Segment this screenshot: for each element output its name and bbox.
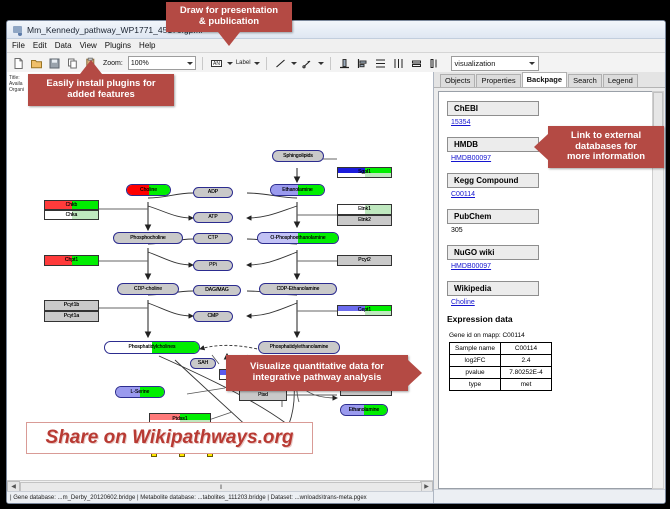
node-ctp[interactable]: CTP [193,233,233,244]
visualization-value: visualization [455,59,496,68]
table-row: Sample name C00114 [450,343,552,355]
node-label: Chpt1 [65,258,78,263]
zoom-label: Zoom: [103,60,123,67]
db-header-pubchem: PubChem [447,209,539,224]
node-ethanolamine-top[interactable]: Ethanolamine [270,184,325,196]
status-bar: | Gene database: ...m_Derby_20120602.bri… [7,491,433,503]
node-label: Cept1 [358,308,371,313]
callout-draw-for-presentation: Draw for presentation & publication [166,2,292,32]
node-choline-top[interactable]: Choline [126,184,171,196]
node-label: Pcyt1b [64,303,79,308]
node-phosphatidylethanolamine[interactable]: Phosphatidylethanolamine [258,341,340,354]
open-folder-icon[interactable] [29,56,44,71]
toolbar-separator [202,57,203,70]
node-label: Phosphatidylcholines [129,345,176,350]
share-banner: Share on Wikipathways.org [26,422,313,454]
callout-pointer-up-plugins [80,60,102,74]
table-row: type met [450,379,552,391]
callout-link-external-databases: Link to external databases for more info… [548,126,664,168]
svg-text:AN: AN [213,61,220,67]
node-phosphocholine[interactable]: Phosphocholine [113,232,183,244]
datanode-dropdown-icon[interactable] [227,62,233,65]
node-cdp-ethanolamine[interactable]: CDP-Ethanolamine [259,283,337,295]
expression-table: Sample name C00114 log2FC 2.4 pvalue 7.8… [449,342,552,391]
db-header-hmdb: HMDB [447,137,539,152]
tab-backpage[interactable]: Backpage [522,72,567,87]
tab-properties[interactable]: Properties [476,74,520,87]
callout-text: Link to external databases for more info… [567,131,645,164]
node-pcyt2[interactable]: Pcyt2 [337,255,392,266]
node-label: ATP [208,215,217,220]
label-tool-label[interactable]: Label [236,60,251,66]
tab-objects[interactable]: Objects [440,74,475,87]
db-header-wikipedia: Wikipedia [447,281,539,296]
node-label: Ptdss1 [172,417,187,422]
pathway-edges [7,72,433,481]
interaction-tool-icon[interactable] [300,56,315,71]
menu-item-view[interactable]: View [80,41,97,50]
line-tool-icon[interactable] [273,56,288,71]
callout-text: Visualize quantitative data for integrat… [250,362,384,384]
callout-pointer-down-draw [218,32,240,46]
callout-pointer-left-choline [226,360,240,386]
menu-item-data[interactable]: Data [55,41,72,50]
node-ethanolamine-bottom[interactable]: Ethanolamine [340,404,388,416]
align-left-icon[interactable] [355,56,370,71]
db-link-chebi[interactable]: 15354 [451,119,652,126]
node-label: O-Phosphoethanolamine [270,236,325,241]
callout-text: Easily install plugins for added feature… [46,79,155,101]
node-cept1[interactable]: Cept1 [337,305,392,316]
node-label: SAH [198,361,208,366]
expr-key-log2fc: log2FC [450,355,501,367]
node-pcyt1b[interactable]: Pcyt1b [44,300,99,311]
visualization-combobox[interactable]: visualization [451,56,539,71]
window-titlebar: Mm_Kennedy_pathway_WP1771_45176.gpml [7,21,665,39]
db-link-kegg-compound[interactable]: C00114 [451,191,652,198]
menu-item-file[interactable]: File [12,41,25,50]
node-chka[interactable]: Chka [44,210,99,220]
node-label: ADP [208,190,218,195]
expression-data-title: Expression data [447,314,652,324]
node-label: CDP-Ethanolamine [277,287,320,292]
toolbar-separator [330,57,331,70]
node-etnk1[interactable]: Etnk1 [337,204,392,215]
db-header-kegg-compound: Kegg Compound [447,173,539,188]
node-label: DAG/MAG [205,288,229,293]
table-row: log2FC 2.4 [450,355,552,367]
node-chkb[interactable]: Chkb [44,200,99,210]
pathway-canvas[interactable]: Title: Availa Organi [7,72,433,481]
node-label: CTP [208,236,218,241]
expr-val-log2fc: 2.4 [501,355,552,367]
callout-text: Draw for presentation & publication [180,6,278,28]
node-cmp[interactable]: CMP [193,311,233,322]
pathway-metadata: Title: Availa Organi [9,75,24,94]
app-icon [12,24,23,35]
db-header-chebi: ChEBI [447,101,539,116]
expr-key-sample-name: Sample name [450,343,501,355]
meta-organism-label: Organi [9,87,24,93]
node-label: Chkb [66,203,78,208]
expr-val-type: met [501,379,552,391]
side-panel-footer [434,489,665,503]
node-label: Ethanolamine [282,188,313,193]
zoom-value: 100% [131,60,149,67]
menu-item-plugins[interactable]: Plugins [105,41,131,50]
tab-legend[interactable]: Legend [603,74,638,87]
table-row: pvalue 7.80252E-4 [450,367,552,379]
db-link-wikipedia[interactable]: Choline [451,299,652,306]
callout-visualize-quantitative-data: Visualize quantitative data for integrat… [226,355,408,391]
copy-icon[interactable] [65,56,80,71]
interaction-dropdown-icon[interactable] [318,62,324,65]
toolbar: Zoom: 100% AN Label [7,53,665,74]
callout-pointer-left-db [534,134,548,160]
callout-install-plugins: Easily install plugins for added feature… [28,74,174,106]
label-dropdown-icon[interactable] [254,62,260,65]
node-atp[interactable]: ATP [193,212,233,223]
side-panel-tabs: Objects Properties Backpage Search Legen… [434,72,665,88]
db-value-pubchem: 305 [451,227,652,234]
node-label: CMP [207,314,218,319]
node-ppi[interactable]: PPi [193,260,233,271]
callout-pointer-right-visualize [408,360,422,386]
node-phosphatidylcholines[interactable]: Phosphatidylcholines [104,341,200,354]
menu-item-edit[interactable]: Edit [33,41,47,50]
zoom-combobox[interactable]: 100% [128,56,196,70]
chevron-down-icon [529,62,535,65]
screenshot-root: Mm_Kennedy_pathway_WP1771_45176.gpml Fil… [0,0,670,509]
line-dropdown-icon[interactable] [291,62,297,65]
distribute-horizontal-icon[interactable] [391,56,406,71]
align-bottom-icon[interactable] [337,56,352,71]
node-label: Etnk1 [358,207,371,212]
node-label: Ethanolamine [349,408,380,413]
node-dagmag[interactable]: DAG/MAG [193,285,241,296]
node-etnk2[interactable]: Etnk2 [337,215,392,226]
gene-id-on-mapp: Gene id on mapp: C00114 [449,332,652,339]
save-icon[interactable] [47,56,62,71]
scroll-track[interactable]: ‖ [20,482,420,492]
tab-search[interactable]: Search [568,74,602,87]
node-cdp-choline[interactable]: CDP-choline [117,283,179,295]
node-chpt1[interactable]: Chpt1 [44,255,99,266]
node-label: Phosphocholine [130,236,166,241]
node-label: Phosphatidylethanolamine [270,345,329,350]
toolbar-separator [266,57,267,70]
same-height-icon[interactable] [427,56,442,71]
new-file-icon[interactable] [11,56,26,71]
node-o-phosphoethanolamine[interactable]: O-Phosphoethanolamine [257,232,339,244]
node-label: Sphingolipids [283,154,313,159]
node-sgpl1[interactable]: Sgpl1 [337,167,392,178]
share-banner-text: Share on Wikipathways.org [46,427,294,449]
node-sphingolipids[interactable]: Sphingolipids [272,150,324,162]
node-label: Sgpl1 [358,170,371,175]
node-label: Pcyt2 [358,258,371,263]
db-header-nugo-wiki: NuGO wiki [447,245,539,260]
expr-key-type: type [450,379,501,391]
node-l-serine-left[interactable]: L-Serine [115,386,165,398]
node-pcyt1a[interactable]: Pcyt1a [44,311,99,322]
expr-key-pvalue: pvalue [450,367,501,379]
node-label: Pcyt1a [64,314,79,319]
node-label: PPi [209,263,217,268]
node-label: CDP-choline [134,287,162,292]
menu-bar: File Edit Data View Plugins Help [7,39,665,53]
node-label: Pisd [258,393,268,398]
node-sah[interactable]: SAH [190,358,216,369]
node-label: Chka [66,213,78,218]
menu-item-help[interactable]: Help [139,41,155,50]
node-adp[interactable]: ADP [193,187,233,198]
node-label: Choline [140,188,157,193]
chevron-down-icon [187,62,193,65]
same-width-icon[interactable] [409,56,424,71]
node-label: L-Serine [131,390,150,395]
node-label: Etnk2 [358,218,371,223]
datanode-icon[interactable]: AN [209,56,224,71]
distribute-vertical-icon[interactable] [373,56,388,71]
db-link-nugo-wiki[interactable]: HMDB00097 [451,263,652,270]
expr-val-sample-name: C00114 [501,343,552,355]
expr-val-pvalue: 7.80252E-4 [501,367,552,379]
